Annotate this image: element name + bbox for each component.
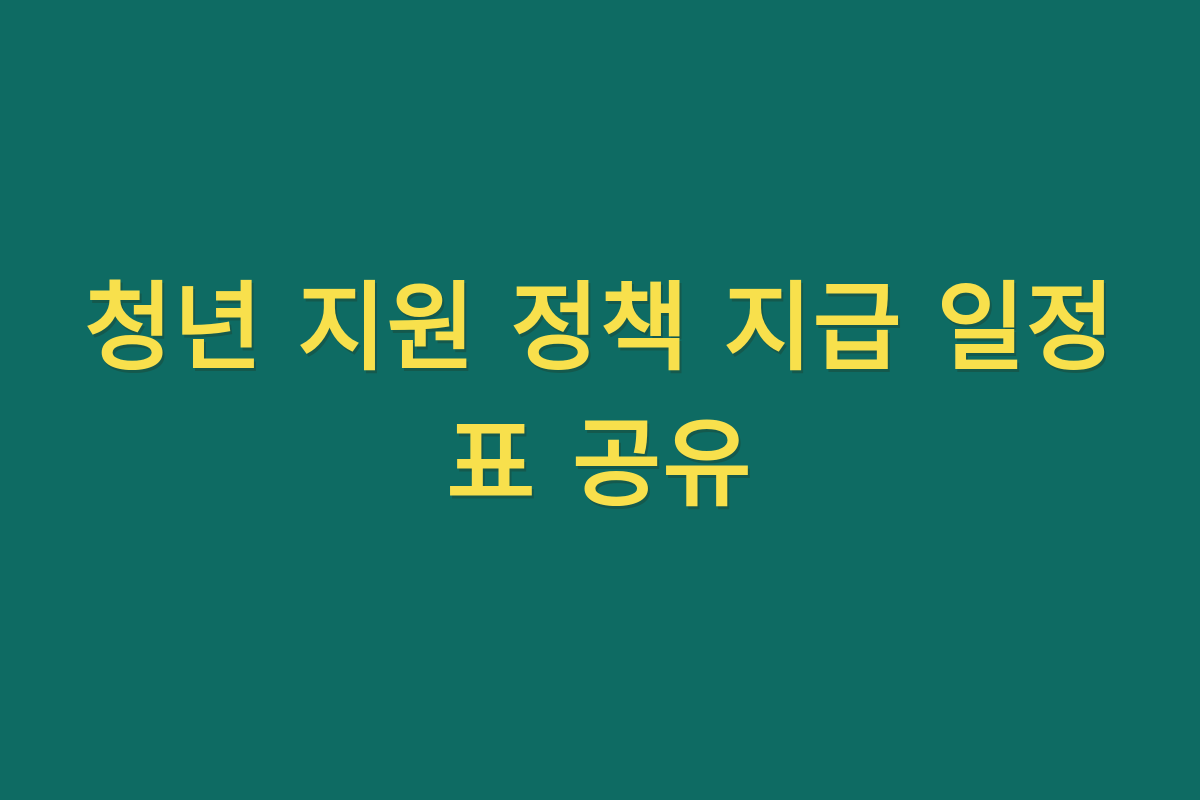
page-title-line-1: 청년 지원 정책 지급 일정 — [50, 260, 1150, 396]
page-title: 청년 지원 정책 지급 일정 표 공유 — [50, 260, 1150, 532]
page-title-line-2: 표 공유 — [50, 396, 1150, 532]
banner-canvas: 청년 지원 정책 지급 일정 표 공유 — [0, 0, 1200, 800]
